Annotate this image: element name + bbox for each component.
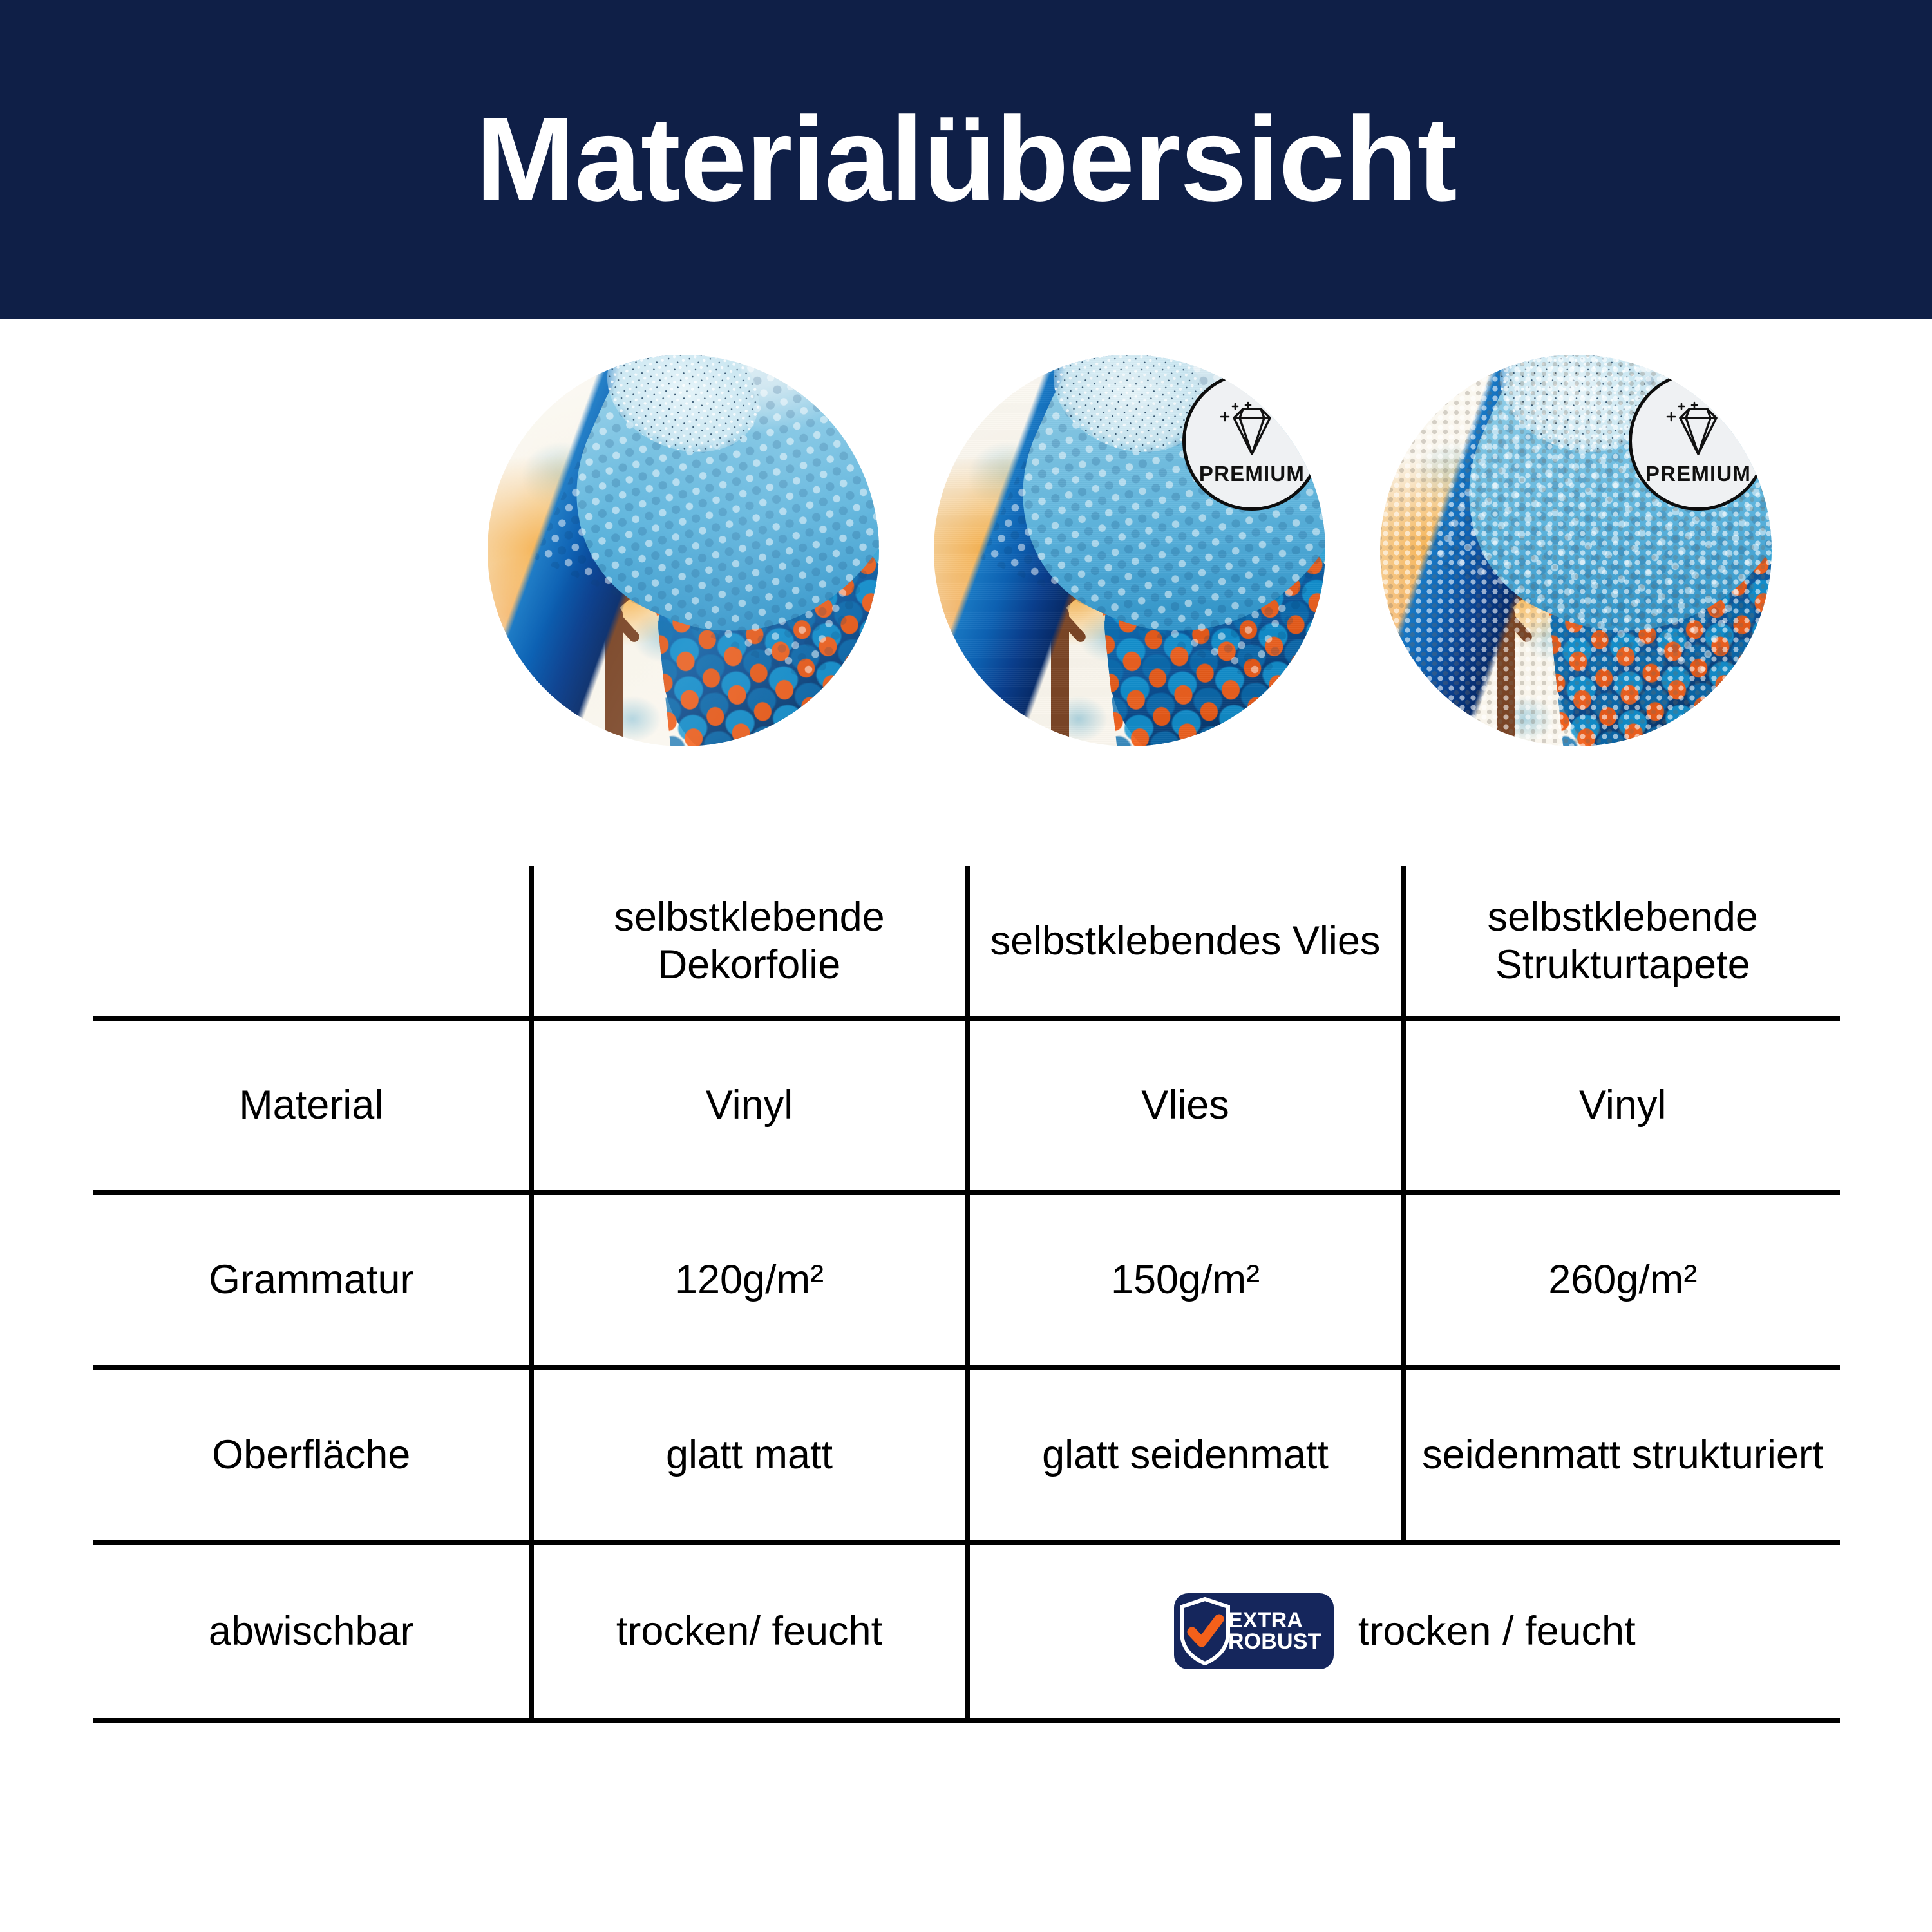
robust-line-1: EXTRA	[1228, 1610, 1321, 1631]
swatch-dekorfolie[interactable]	[488, 355, 879, 746]
diamond-icon	[1662, 399, 1734, 460]
header-banner: Materialübersicht	[0, 0, 1932, 319]
cell-material-dekorfolie: Vinyl	[531, 1018, 967, 1192]
cell-oberflaeche-strukturtapete: seidenmatt strukturiert	[1403, 1367, 1840, 1542]
page-title: Materialübersicht	[475, 100, 1456, 220]
column-header-vlies: selbstklebendes Vlies	[967, 866, 1403, 1018]
table-row: abwischbar trocken/ feucht EXTRA	[93, 1542, 1840, 1720]
cell-material-strukturtapete: Vinyl	[1403, 1018, 1840, 1192]
cell-abwischbar-vlies-strukturtapete: EXTRA ROBUST trocken / feucht	[967, 1542, 1840, 1720]
cell-material-vlies: Vlies	[967, 1018, 1403, 1192]
extra-robust-badge: EXTRA ROBUST	[1174, 1593, 1334, 1669]
swatch-strukturtapete[interactable]: PREMIUM	[1380, 355, 1772, 746]
cell-oberflaeche-vlies: glatt seidenmatt	[967, 1367, 1403, 1542]
cell-abwischbar-dekorfolie: trocken/ feucht	[531, 1542, 967, 1720]
extra-robust-text: EXTRA ROBUST	[1228, 1610, 1321, 1653]
table-row: Grammatur 120g/m² 150g/m² 260g/m²	[93, 1192, 1840, 1367]
row-label-material: Material	[93, 1018, 531, 1192]
cell-oberflaeche-dekorfolie: glatt matt	[531, 1367, 967, 1542]
row-label-abwischbar: abwischbar	[93, 1542, 531, 1720]
table-row: Oberfläche glatt matt glatt seidenmatt s…	[93, 1367, 1840, 1542]
table-corner-cell	[93, 866, 531, 1018]
vinyl-sheen-overlay	[488, 355, 879, 746]
swatch-gallery: PREMIUM	[0, 351, 1932, 757]
premium-badge: PREMIUM	[1629, 372, 1768, 511]
table-header-row: selbstklebende Dekorfolie selbstklebende…	[93, 866, 1840, 1018]
column-header-strukturtapete: selbstklebende Strukturtapete	[1403, 866, 1840, 1018]
cell-grammatur-strukturtapete: 260g/m²	[1403, 1192, 1840, 1367]
cell-grammatur-dekorfolie: 120g/m²	[531, 1192, 967, 1367]
row-label-grammatur: Grammatur	[93, 1192, 531, 1367]
swatch-vlies[interactable]: PREMIUM	[934, 355, 1325, 746]
table-row: Material Vinyl Vlies Vinyl	[93, 1018, 1840, 1192]
shield-check-icon	[1178, 1597, 1232, 1665]
premium-label: PREMIUM	[1645, 462, 1751, 486]
premium-badge: PREMIUM	[1182, 372, 1321, 511]
column-header-dekorfolie: selbstklebende Dekorfolie	[531, 866, 967, 1018]
material-overview-infographic: Materialübersicht	[0, 0, 1932, 1932]
row-label-oberflaeche: Oberfläche	[93, 1367, 531, 1542]
robust-line-2: ROBUST	[1228, 1631, 1321, 1653]
premium-label: PREMIUM	[1199, 462, 1305, 486]
cell-grammatur-vlies: 150g/m²	[967, 1192, 1403, 1367]
material-comparison-table: selbstklebende Dekorfolie selbstklebende…	[0, 866, 1932, 1723]
diamond-icon	[1216, 399, 1288, 460]
cell-abwischbar-value-right: trocken / feucht	[1358, 1607, 1636, 1655]
